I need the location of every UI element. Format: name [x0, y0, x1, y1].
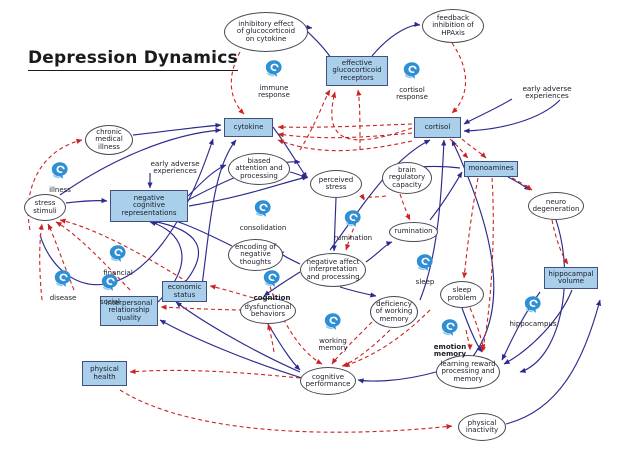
icon-node-cognition: cognition: [243, 268, 301, 302]
node-physical-inactivity[interactable]: physical inactivity: [458, 413, 506, 441]
node-neuro-degeneration[interactable]: neuro degeneration: [528, 192, 584, 220]
node-chronic-medical-illness[interactable]: chronic medical illness: [85, 125, 133, 155]
icon-label-emotion-memory: emotion memory: [434, 344, 466, 358]
node-encoding-of-negative-thoughts[interactable]: encoding of negative thoughts: [228, 239, 283, 271]
icon-label-rumination-icon: rumination: [334, 235, 372, 242]
node-perceived-stress[interactable]: perceived stress: [310, 170, 362, 198]
icon-node-consolidation: consolidation: [234, 198, 292, 232]
icon-label-social: social: [100, 299, 120, 306]
icon-label-disease: disease: [50, 295, 77, 302]
icon-node-illness: illness: [31, 160, 89, 194]
node-learning-reward-processing-and-memory[interactable]: learning reward processing and memory: [436, 355, 500, 389]
node-cognitive-performance[interactable]: cognitive performance: [300, 367, 356, 395]
node-feedback-inhibition-of-hpaxis[interactable]: feedback inhibition of HPAxis: [422, 9, 484, 43]
icon-label-illness: illness: [49, 187, 71, 194]
node-stress-stimuli[interactable]: stress stimuli: [24, 194, 66, 221]
illness-icon: [49, 160, 71, 186]
node-cortisol[interactable]: cortisol: [414, 117, 461, 138]
label-early-adverse-experiences-right: early adverse experiences: [507, 85, 587, 100]
emotion-memory-icon: [439, 317, 461, 343]
immune-response-icon: [263, 58, 285, 84]
node-negative-affect-interpretation-and-processing[interactable]: negative affect interpretation and proce…: [300, 253, 366, 287]
node-effective-glucocorticoid-receptors[interactable]: effective glucocorticoid receptors: [326, 56, 388, 86]
icon-node-emotion-memory: emotion memory: [421, 317, 479, 358]
node-inhibitory-effect-of-glucocorticoid-on-cytokine[interactable]: inhibitory effect of glucocorticoid on c…: [224, 12, 308, 52]
hippocampus-icon: [522, 294, 544, 320]
depression-dynamics-diagram: Depression Dynamics effective glucocorti…: [0, 0, 640, 458]
icon-label-cortisol-response: cortisol response: [396, 87, 428, 101]
icon-node-cortisol-response: cortisol response: [383, 60, 441, 101]
icon-node-social: social: [81, 272, 139, 306]
sleep-icon: [414, 252, 436, 278]
icon-node-working-memory: working memory: [304, 311, 362, 352]
node-monoamines[interactable]: monoamines: [464, 161, 518, 177]
node-rumination[interactable]: rumination: [389, 222, 438, 242]
node-negative-cognitive-representations[interactable]: negative cognitive representations: [110, 190, 188, 222]
icon-node-sleep: sleep: [396, 252, 454, 286]
icon-label-sleep: sleep: [416, 279, 435, 286]
label-early-adverse-experiences-left: early adverse experiences: [135, 160, 215, 175]
icon-label-consolidation: consolidation: [240, 225, 287, 232]
cognition-icon: [261, 268, 283, 294]
icon-label-immune-response: immune response: [258, 85, 290, 99]
icon-node-hippocampus: hippocampus: [504, 294, 562, 328]
working-memory-icon: [322, 311, 344, 337]
node-physical-health[interactable]: physical health: [82, 361, 127, 386]
cortisol-response-icon: [401, 60, 423, 86]
rumination-icon-icon: [342, 208, 364, 234]
node-cytokine[interactable]: cytokine: [224, 118, 273, 137]
icon-label-working-memory: working memory: [318, 338, 347, 352]
icon-node-immune-response: immune response: [245, 58, 303, 99]
node-economic-status[interactable]: economic status: [162, 281, 207, 302]
icon-label-hippocampus: hippocampus: [509, 321, 556, 328]
page-title: Depression Dynamics: [28, 48, 238, 71]
node-biased-attention-and-processing[interactable]: biased attention and processing: [228, 153, 290, 185]
node-deficiency-of-working-memory[interactable]: deficiency of working memory: [370, 296, 418, 328]
icon-node-rumination-icon: rumination: [324, 208, 382, 242]
disease-icon: [52, 268, 74, 294]
icon-label-cognition: cognition: [254, 295, 291, 302]
financial-icon: [107, 243, 129, 269]
node-hippocampal-volume[interactable]: hippocampal volume: [544, 267, 598, 289]
consolidation-icon: [252, 198, 274, 224]
social-icon: [99, 272, 121, 298]
node-brain-regulatory-capacity[interactable]: brain regulatory capacity: [382, 162, 432, 194]
